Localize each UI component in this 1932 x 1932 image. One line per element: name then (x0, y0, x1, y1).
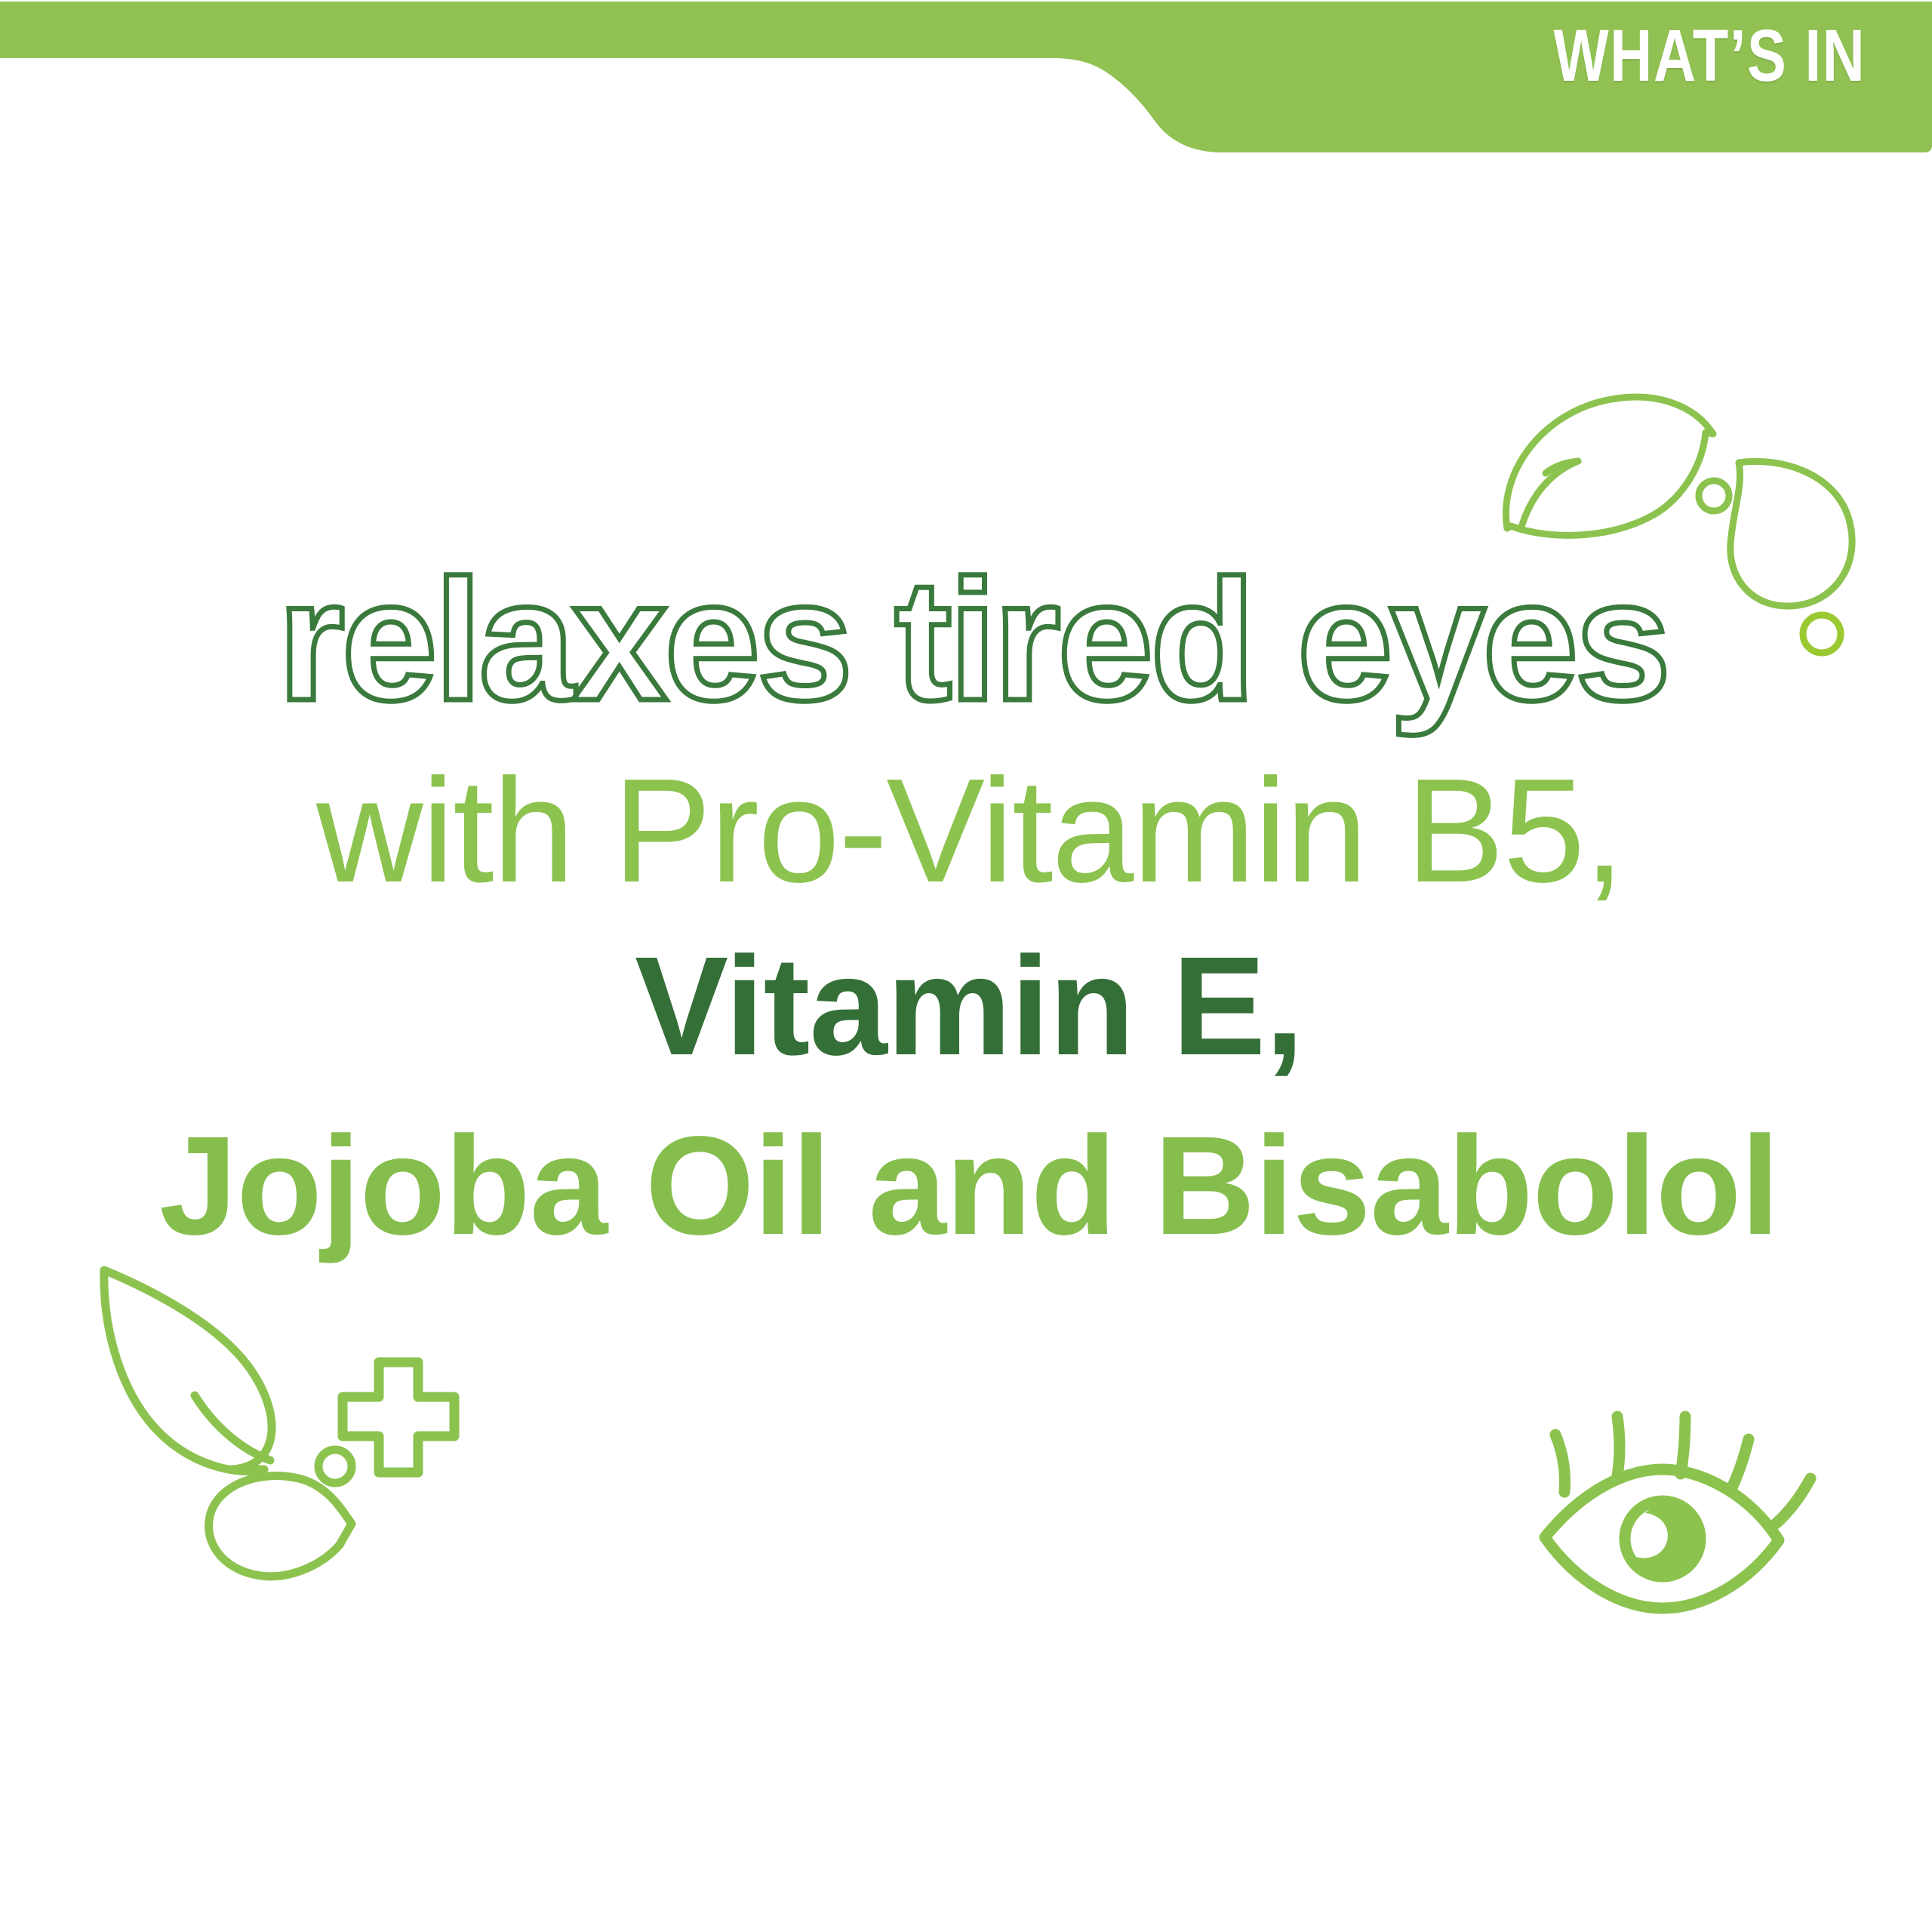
leaf-icon (1506, 397, 1713, 535)
droplet-leaf-icon (209, 1476, 352, 1577)
eye-iris-icon (1625, 1501, 1700, 1577)
banner-shape (0, 0, 1932, 158)
eyelash-icon-1 (1555, 1435, 1565, 1492)
leaf-vein-icon (1522, 461, 1578, 525)
eyelash-icon-3 (1681, 1417, 1685, 1474)
decor-group-eye (1513, 1400, 1830, 1664)
header-banner: WHAT’S IN (0, 0, 1932, 158)
circle-icon (1699, 481, 1729, 511)
eye-pupil-icon (1636, 1506, 1696, 1572)
poster-canvas: WHAT’S IN relaxes tired eyes with Pro-Vi… (0, 0, 1932, 1932)
headline-line-jojoba-oil-bisabolol: Jojoba Oil and Bisabolol (0, 1116, 1932, 1257)
eye-icon (1545, 1469, 1779, 1608)
banner-fill (0, 2, 1932, 152)
headline-line-pro-vitamin-b5: with Pro-Vitamin B5, (0, 757, 1932, 905)
banner-title: WHAT’S IN (1553, 6, 1866, 104)
decor-group-bottom-left (83, 1249, 491, 1626)
eyelash-icon-5 (1776, 1478, 1810, 1524)
headline-line-vitamin-e: Vitamin E, (0, 937, 1932, 1077)
headline-line-relaxes-tired-eyes: relaxes tired eyes (0, 555, 1932, 727)
leaf-vein-icon (195, 1395, 270, 1460)
plus-cross-icon (343, 1362, 454, 1472)
circle-icon (318, 1450, 352, 1483)
eyelash-icon-4 (1730, 1439, 1749, 1491)
eyelash-icon-2 (1617, 1417, 1620, 1475)
leaf-icon (104, 1270, 272, 1472)
leaf-vein-tip-icon (1546, 461, 1578, 473)
headline-block: relaxes tired eyes with Pro-Vitamin B5, … (0, 555, 1932, 1257)
